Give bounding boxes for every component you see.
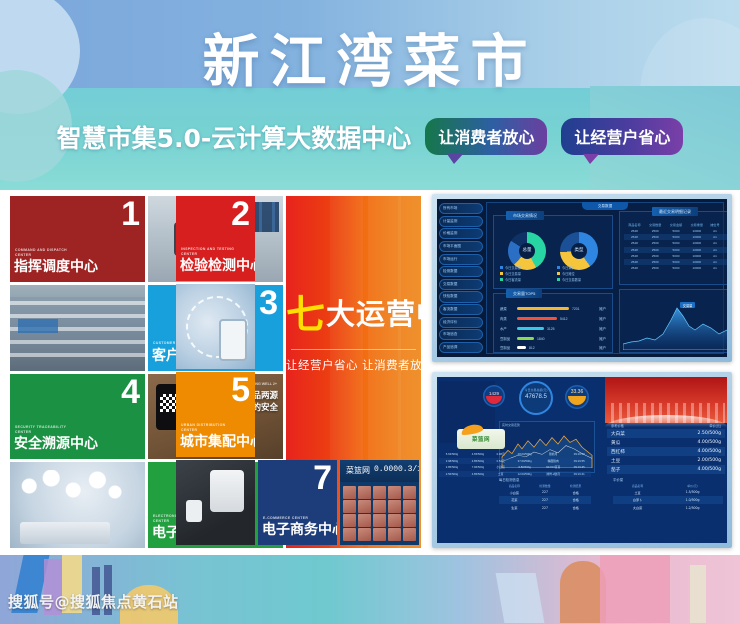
top5-row: 蔬菜 7201 摊户	[500, 306, 606, 311]
cell: 4.85/500g	[465, 471, 491, 478]
table-row: 白萝卜 1.0/500g	[613, 496, 723, 504]
area-path	[623, 308, 727, 350]
price-name: 土豆	[607, 456, 655, 465]
banner-text: 七大运营中心 让经营户省心 让消费者放心	[286, 284, 421, 373]
poster-header: 新江湾菜市 智慧市集5.0-云计算大数据中心 让消费者放心 让经营户省心	[0, 0, 740, 190]
col-header: 商品名称	[624, 221, 645, 228]
top5-unit: 摊户	[599, 345, 606, 350]
top5-unit: 摊户	[599, 316, 606, 321]
top5-name: 蔬菜	[500, 306, 514, 311]
cell: 2500	[645, 265, 666, 271]
top5-value: 5412	[560, 317, 568, 321]
transactions-table: 商品名称 交易数量 交易金额 交易重量 摊位号 交易日期 2548 2500 5…	[624, 221, 727, 271]
top5-bar	[517, 307, 569, 310]
chart-caption: 实时交易走势	[502, 423, 520, 427]
center-tile-4: 4 SECURITY TRACEABILITY CENTER 安全溯源中心	[10, 374, 145, 460]
center-cn-label: 客户服务中心	[152, 345, 236, 365]
center-tile-3: 3 CUSTOMER SERVICE CENTER 客户服务中心	[148, 285, 283, 371]
top5-bar	[517, 346, 526, 349]
price-value: 4.00/500g	[655, 447, 725, 456]
center-number: 6	[259, 463, 278, 497]
cell: 生菜	[499, 504, 530, 512]
cell: 猪前月	[539, 451, 568, 458]
center-cn-label: 安全溯源中心	[14, 433, 98, 453]
center-tile-1: 1 COMMAND AND DISPATCH CENTER 指挥调度中心	[10, 196, 145, 282]
sidebar-item-11[interactable]: 产品追溯	[439, 342, 483, 353]
cell: 5000	[666, 265, 687, 271]
sidebar-item-2[interactable]: 价格监测	[439, 228, 483, 239]
price-header-left: 参考价格	[611, 423, 624, 428]
photo-market-shelf	[10, 285, 145, 371]
dashboard-main: 交易数据 市场交易情况 总量 类型 今日交易额 今日交易量	[486, 202, 724, 354]
top5-row: 豆制品 812 摊户	[500, 345, 606, 350]
price-row: 茄子 4.00/500g	[607, 465, 725, 474]
top5-value: 1840	[537, 337, 545, 341]
banner-divider	[291, 349, 416, 350]
top5-unit: 摊户	[599, 326, 606, 331]
seven-centers-banner: 七大运营中心 让经营户省心 让消费者放心	[286, 196, 421, 548]
cell: 土豆	[613, 488, 662, 496]
cell: 小白菜	[499, 488, 530, 496]
col-header: 交易金额	[666, 221, 687, 228]
price-table: 大白菜 2.50/500g 黄瓜 4.00/500g 西红柿 4.00/500g	[607, 429, 725, 474]
qr-code-icon	[160, 394, 178, 412]
cell: 10000	[686, 265, 707, 271]
badge-merchant-label: 让经营户省心	[574, 128, 670, 147]
trn-row: 3.98/500g 4.85/500g 0.52元 37.60/500g 精瘦猪…	[439, 458, 591, 465]
legend-label: 今日客流量	[505, 277, 521, 283]
top5-name: 肉类	[500, 316, 514, 321]
legend-item: 今日客流量	[500, 277, 549, 283]
dashboard-screen-1: 所有市场 计量监测 价格监测 市场平面图 市场运行 检测数据 交易数据 快检数据…	[432, 194, 732, 362]
price-name: 茄子	[607, 465, 655, 474]
cell: 1.5/500g	[662, 488, 723, 496]
price-row: 西红柿 4.00/500g	[607, 447, 725, 456]
cell: 花菜	[499, 496, 530, 504]
cell: 大白菜	[613, 504, 662, 512]
cell: 1.0/500g	[662, 496, 723, 504]
sidebar-item-10[interactable]: 市场追查	[439, 329, 483, 340]
sidebar-item-4[interactable]: 市场运行	[439, 254, 483, 265]
top5-name: 水产	[500, 326, 514, 331]
page-title: 新江湾菜市	[0, 16, 740, 98]
panel-title: 市场交易情况	[506, 211, 544, 220]
legend-swatch	[500, 272, 503, 275]
cell: 2548	[624, 265, 645, 271]
top5-bar	[517, 317, 557, 320]
gauge-total-amount: 今日交易总额(元) 47678.5	[519, 381, 553, 415]
gauge-red-value: 1429	[483, 391, 505, 396]
price-header-right: 单价(元)	[709, 423, 721, 428]
footer-shape	[496, 573, 545, 623]
banner-title: 大运营中心	[326, 297, 421, 331]
cell: 09:19:45	[567, 464, 591, 471]
top5-name: 豆制品	[500, 345, 514, 350]
legend-swatch	[500, 266, 503, 269]
cell: A1	[707, 265, 723, 271]
cell: 7.96/500g	[465, 464, 491, 471]
cell: 28.00/500g	[510, 451, 538, 458]
top5-row: 肉类 5412 摊户	[500, 316, 606, 321]
panel-top5: 交易量TOP5 蔬菜 7201 摊户 肉类 5412 摊户	[493, 293, 613, 353]
panel-market-transactions: 市场交易情况 总量 类型 今日交易额 今日交易量 今日客流量	[493, 215, 613, 289]
legend-right: 今日菜价 今日摊位 今日交易数量	[557, 265, 606, 283]
badge-consumer-label: 让消费者放心	[438, 128, 534, 147]
dashboard-2-content: 1429 今日交易总额(元) 47678.5 33.36 实时交易走势	[437, 377, 727, 543]
photo-command-room	[148, 196, 283, 282]
photo-qr-text: 关注农产品两源 保障舌尖上的安全	[210, 390, 278, 416]
trn-row: 5.63/500g 4.65/500g 0.98元 28.00/500g 猪前月…	[439, 451, 591, 458]
photo-qr-traceability: MAKE LIVING WELL 2+ 关注农产品两源 保障舌尖上的安全	[148, 374, 283, 460]
cell: 922/23豆豆	[539, 464, 568, 471]
price-row: 土豆 2.00/500g	[607, 456, 725, 465]
dashboard-sidebar[interactable]: 所有市场 计量监测 价格监测 市场平面图 市场运行 检测数据 交易数据 快检数据…	[439, 203, 483, 353]
cell: 1.2/500g	[662, 504, 723, 512]
gauge-total-label: 今日交易总额(元)	[519, 388, 553, 392]
sidebar-item-7[interactable]: 快检数据	[439, 291, 483, 302]
page-subtitle: 智慧市集5.0-云计算大数据中心	[57, 119, 412, 155]
dashboard-2-board: 1429 今日交易总额(元) 47678.5 33.36 实时交易走势	[437, 377, 727, 543]
donut-label: 总量	[508, 247, 546, 253]
cell: 合格	[560, 504, 591, 512]
col-header: 摊位号	[707, 221, 723, 228]
badge-merchant: 让经营户省心	[561, 118, 683, 155]
top5-value: 7201	[572, 307, 580, 311]
center-number: 3	[259, 286, 278, 320]
cell: 2.85/500g	[439, 464, 465, 471]
dashboard-screen-2: 1429 今日交易总额(元) 47678.5 33.36 实时交易走势	[432, 372, 732, 548]
top5-unit: 摊户	[599, 306, 606, 311]
price-name: 黄瓜	[607, 438, 655, 447]
center-cn-label: 电子结算中心	[152, 522, 236, 542]
sidebar-item-8[interactable]: 客流数据	[439, 304, 483, 315]
price-row: 黄瓜 4.00/500g	[607, 438, 725, 447]
sidebar-item-9[interactable]: 经济评价	[439, 317, 483, 328]
cell: 小白菜	[491, 464, 511, 471]
banner-subtitle: 让经营户省心 让消费者放心	[286, 357, 421, 373]
cell: 227	[530, 488, 561, 496]
cell: 白萝卜	[613, 496, 662, 504]
legend-swatch	[557, 278, 560, 281]
top5-bar	[517, 337, 534, 340]
cell: 合格	[560, 496, 591, 504]
price-name: 大白菜	[607, 429, 655, 438]
legend-item: 今日交易数量	[557, 277, 606, 283]
center-number: 1	[121, 197, 140, 231]
price-value: 4.00/500g	[655, 465, 725, 474]
sidebar-item-6[interactable]: 交易数据	[439, 279, 483, 290]
badge-consumer: 让消费者放心	[425, 118, 547, 155]
transaction-stream-table: 5.63/500g 4.65/500g 0.98元 28.00/500g 猪前月…	[439, 451, 591, 477]
cailanwang-logo: 菜篮网	[457, 429, 505, 449]
cell: 4.85/500g	[465, 458, 491, 465]
legend-left: 今日交易额 今日交易量 今日客流量	[500, 265, 549, 283]
price-name: 西红柿	[607, 447, 655, 456]
price-value: 2.50/500g	[655, 429, 725, 438]
top5-name: 豆制品	[500, 336, 514, 341]
cell: 3.98/500g	[439, 458, 465, 465]
cell: 5.63/500g	[439, 451, 465, 458]
qr-phone	[156, 384, 182, 430]
price-value: 4.00/500g	[655, 438, 725, 447]
top5-unit: 摊户	[599, 336, 606, 341]
sidebar-item-1[interactable]: 计量监测	[439, 216, 483, 227]
panel-title: 最近交易明细记录	[652, 207, 698, 216]
poster-root: 新江湾菜市 智慧市集5.0-云计算大数据中心 让消费者放心 让经营户省心 1 C…	[0, 0, 740, 624]
panel-transactions-table: 最近交易明细记录 商品名称 交易数量 交易金额 交易重量 摊位号 交易日期	[619, 211, 727, 285]
cell: 2021.7.17	[723, 265, 727, 271]
cell: 6.80/500g	[510, 464, 538, 471]
top5-value: 3125	[547, 327, 555, 331]
price-row: 大白菜 2.50/500g	[607, 429, 725, 438]
sidebar-item-5[interactable]: 检测数据	[439, 266, 483, 277]
photo-qr-line2: 保障舌尖上的安全	[210, 402, 278, 415]
cell: 合格	[560, 488, 591, 496]
photo-qr-line1: 关注农产品两源	[210, 390, 278, 403]
legend-swatch	[557, 272, 560, 275]
cell: 2.56/500g	[439, 471, 465, 478]
daily-check-table: 每日检测信息 商品名称 检测数量 检测结果 小白菜 227 合格 花菜	[499, 477, 591, 512]
cell: 0.98元	[491, 451, 511, 458]
table-row: 2548 2500 5000 10000 A1 2021.7.17	[624, 265, 727, 271]
dashboard-tab[interactable]: 交易数据	[582, 202, 628, 210]
center-cn-label: 指挥调度中心	[14, 256, 98, 276]
top5-bar	[517, 327, 544, 330]
banner-number: 七	[286, 293, 326, 338]
table-row: 小白菜 227 合格	[499, 488, 591, 496]
dashboard-1-content: 所有市场 计量监测 价格监测 市场平面图 市场运行 检测数据 交易数据 快检数据…	[437, 199, 727, 357]
trn-row: 2.85/500g 7.96/500g 小白菜 6.80/500g 922/23…	[439, 464, 591, 471]
col-header: 交易数量	[645, 221, 666, 228]
panel-title: 交易量TOP5	[506, 289, 542, 298]
sidebar-item-0[interactable]: 所有市场	[439, 203, 483, 214]
legend-swatch	[500, 278, 503, 281]
donut-legend: 今日交易额 今日交易量 今日客流量 今日菜价 今日摊位 今日交易数量	[500, 265, 606, 283]
top5-row: 豆制品 1840 摊户	[500, 336, 606, 341]
centers-grid: 1 COMMAND AND DISPATCH CENTER 指挥调度中心 七大运…	[10, 196, 421, 548]
logo-text: 菜篮网	[472, 435, 490, 443]
footer-shape	[690, 565, 706, 623]
table-row: 大白菜 1.2/500g	[613, 504, 723, 512]
header-subtitle-row: 智慧市集5.0-云计算大数据中心 让消费者放心 让经营户省心	[0, 118, 740, 155]
price-value: 2.00/500g	[655, 456, 725, 465]
table-row: 花菜 227 合格	[499, 496, 591, 504]
price-reference-panel: 参考价格 单价(元) 大白菜 2.50/500g 黄瓜 4.00/500g	[607, 423, 725, 474]
col-header: 交易重量	[686, 221, 707, 228]
legend-swatch	[557, 266, 560, 269]
cheap-vegetables-table: 平价菜 商品名称 单价(元) 土豆 1.5/500g 白萝卜 1.0/500g	[613, 477, 723, 512]
donut-label: 类型	[560, 247, 598, 253]
gauge-red: 1429	[483, 385, 505, 407]
center-number: 4	[121, 375, 140, 409]
table-row: 生菜 227 合格	[499, 504, 591, 512]
poster-body: 1 COMMAND AND DISPATCH CENTER 指挥调度中心 七大运…	[0, 190, 740, 555]
poster-footer: 搜狐号@搜狐焦点黄石站	[0, 555, 740, 624]
cell: 0.52元	[491, 458, 511, 465]
col-header: 交易日期	[723, 221, 727, 228]
table-header-row: 商品名称 交易数量 交易金额 交易重量 摊位号 交易日期	[624, 221, 727, 228]
gauge-yellow-value: 33.36	[565, 389, 589, 395]
table-row: 土豆 1.5/500g	[613, 488, 723, 496]
cell: 09:19:59	[567, 451, 591, 458]
banner-heading: 七大运营中心	[286, 284, 421, 340]
top5-value: 812	[529, 346, 535, 350]
panel-area-chart: 交易量	[619, 289, 727, 353]
gauge-yellow: 33.36	[565, 385, 589, 409]
cell: 227	[530, 496, 561, 504]
center-tile-6: 6 ELECTRONIC SETTLEMENT CENTER 电子结算中心	[148, 462, 283, 548]
legend-label: 今日交易数量	[562, 277, 581, 283]
watermark: 搜狐号@搜狐焦点黄石站	[8, 591, 179, 612]
sidebar-item-3[interactable]: 市场平面图	[439, 241, 483, 252]
cell: 37.60/500g	[510, 458, 538, 465]
cell: 227	[530, 504, 561, 512]
cell: 精瘦猪肉	[539, 458, 568, 465]
photo-qr-en: MAKE LIVING WELL 2+	[237, 382, 277, 386]
area-chart	[623, 300, 727, 350]
footer-shape	[600, 555, 670, 623]
top5-row: 水产 3125 摊户	[500, 326, 606, 331]
photo-people-network	[10, 462, 145, 548]
table-header-row: 商品名称 检测数量 检测结果	[499, 483, 591, 488]
gauge-total-value: 47678.5	[519, 394, 553, 400]
cell: 4.65/500g	[465, 451, 491, 458]
cell: 09:19:55	[567, 458, 591, 465]
